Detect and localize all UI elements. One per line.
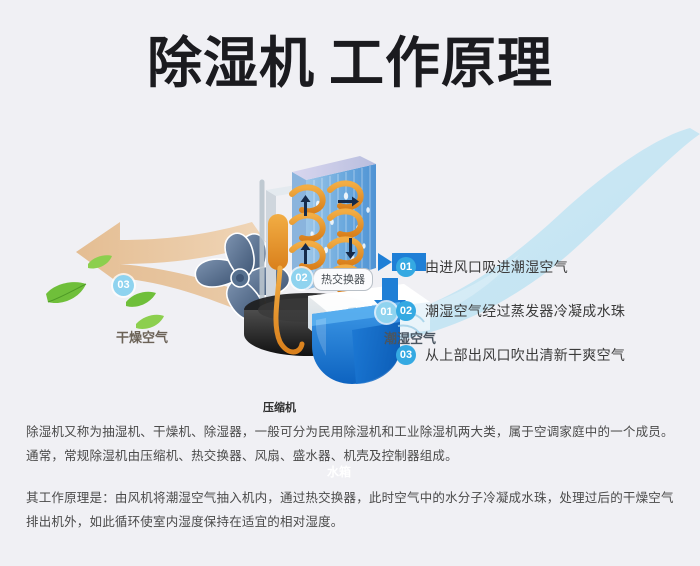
label-dry-air: 干燥空气 [116,327,168,346]
step-text: 潮湿空气经过蒸发器冷凝成水珠 [425,301,625,321]
step-text: 由进风口吸进潮湿空气 [425,257,568,277]
title-part-b: 工作原理 [329,32,553,94]
step-text: 从上部出风口吹出清新干爽空气 [425,345,625,365]
page-title: 除湿机工作原理 [0,33,700,93]
badge-01-icon: 01 [376,302,397,323]
step-number-badge: 01 [396,257,416,277]
badge-02-icon: 02 [291,268,312,289]
label-compressor: 压缩机 [263,399,296,415]
step-number-badge: 03 [396,345,416,365]
list-item: 03 从上部出风口吹出清新干爽空气 [396,344,625,366]
label-heat-exchanger-bubble: 热交换器 [313,268,373,291]
infographic-page: 除湿机工作原理 [0,0,700,566]
body-copy: 除湿机又称为抽湿机、干燥机、除湿器，一般可分为民用除湿机和工业除湿机两大类，属于… [26,420,678,534]
step-number-badge: 02 [396,301,416,321]
title-part-a: 除湿机 [147,32,315,94]
paragraph-2: 其工作原理是：由风机将潮湿空气抽入机内，通过热交换器，此时空气中的水分子冷凝成水… [26,486,678,534]
badge-03-icon: 03 [113,275,134,296]
list-item: 01 由进风口吸进潮湿空气 [396,256,625,278]
compressor-cylinder [268,214,288,270]
steps-list: 01 由进风口吸进潮湿空气 02 潮湿空气经过蒸发器冷凝成水珠 03 从上部出风… [396,256,625,388]
list-item: 02 潮湿空气经过蒸发器冷凝成水珠 [396,300,625,322]
paragraph-1: 除湿机又称为抽湿机、干燥机、除湿器，一般可分为民用除湿机和工业除湿机两大类，属于… [26,420,678,468]
